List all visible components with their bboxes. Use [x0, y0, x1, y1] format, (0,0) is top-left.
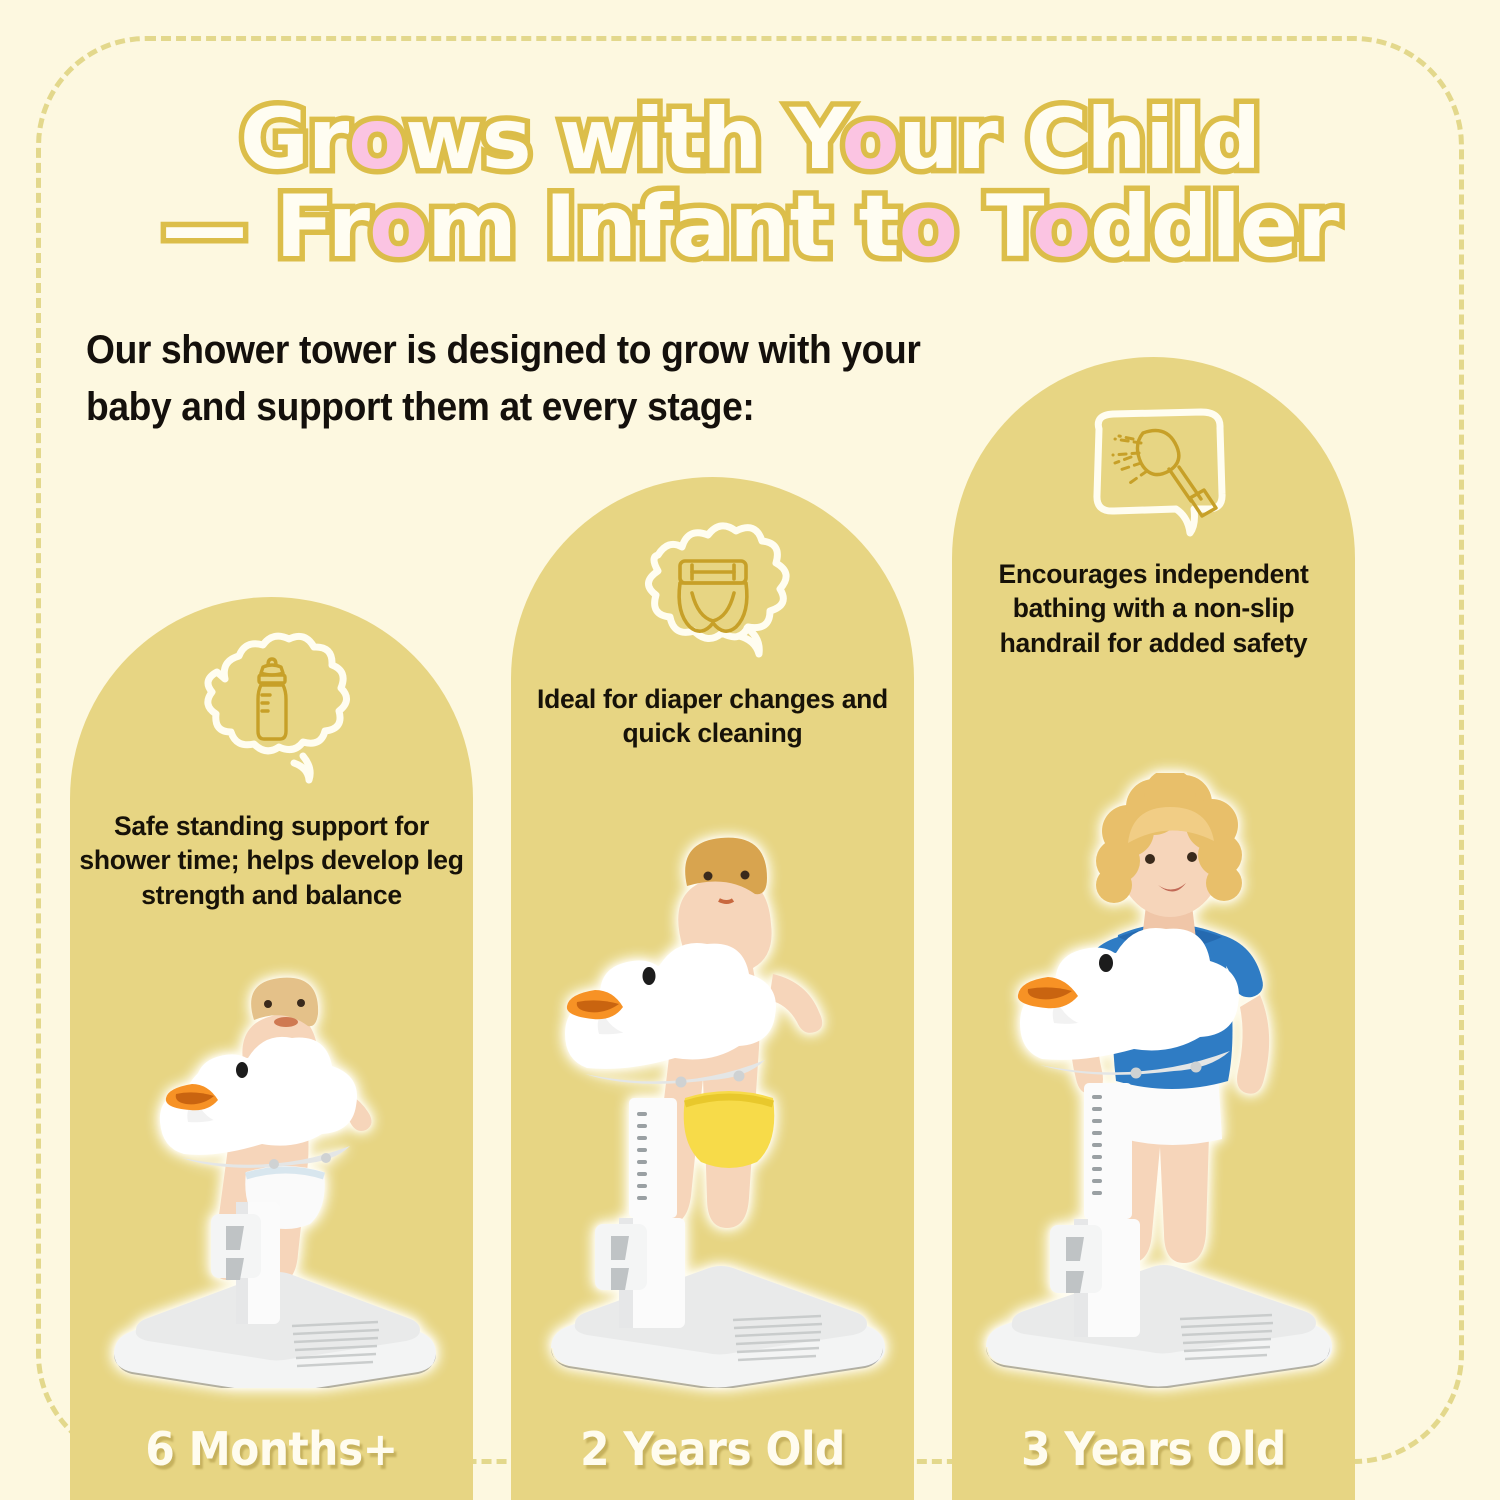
product-photo-1 — [96, 958, 448, 1388]
page-title: Grows with Your Child — From Infant to T… — [0, 96, 1500, 271]
title-seg: m Infant t — [427, 177, 899, 277]
cloud-speech-bubble-2 — [618, 515, 808, 665]
stage-panel-3-years: Encourages independent bathing with a no… — [952, 357, 1355, 1500]
page-title-line-1: Grows with Your Child — [0, 96, 1500, 183]
panel-blurb-1: Safe standing support for shower time; h… — [78, 809, 465, 912]
age-label-2: 2 Years Old — [527, 1422, 898, 1476]
age-label-3: 3 Years Old — [968, 1422, 1339, 1476]
title-highlight-letter: o — [369, 177, 427, 277]
product-photo-3 — [968, 773, 1340, 1388]
title-highlight-letter: o — [1032, 177, 1090, 277]
title-seg: ws with Y — [405, 90, 842, 188]
age-label-1: 6 Months+ — [86, 1422, 457, 1476]
title-seg: ddler — [1090, 177, 1338, 277]
page-title-line-2: — From Infant to Toddler — [0, 183, 1500, 272]
infographic-stage: Grows with Your Child — From Infant to T… — [0, 0, 1500, 1500]
stage-panel-2-years: Ideal for diaper changes and quick clean… — [511, 477, 914, 1500]
stage-panel-6-months: Safe standing support for shower time; h… — [70, 597, 473, 1500]
title-seg: T — [957, 177, 1032, 277]
title-highlight-letter: o — [899, 177, 957, 277]
product-photo-2 — [533, 828, 893, 1388]
title-highlight-letter: o — [348, 90, 405, 188]
rounded-speech-bubble-3 — [1059, 395, 1249, 545]
title-seg: — Fr — [161, 177, 369, 277]
panel-blurb-3: Encourages independent bathing with a no… — [960, 557, 1347, 660]
title-seg: ur Child — [898, 90, 1260, 188]
panel-blurb-2: Ideal for diaper changes and quick clean… — [519, 682, 906, 751]
title-highlight-letter: o — [842, 90, 899, 188]
title-seg: Gr — [240, 90, 348, 188]
cloud-speech-bubble-1 — [177, 635, 367, 785]
stage-columns: Safe standing support for shower time; h… — [70, 340, 1430, 1500]
